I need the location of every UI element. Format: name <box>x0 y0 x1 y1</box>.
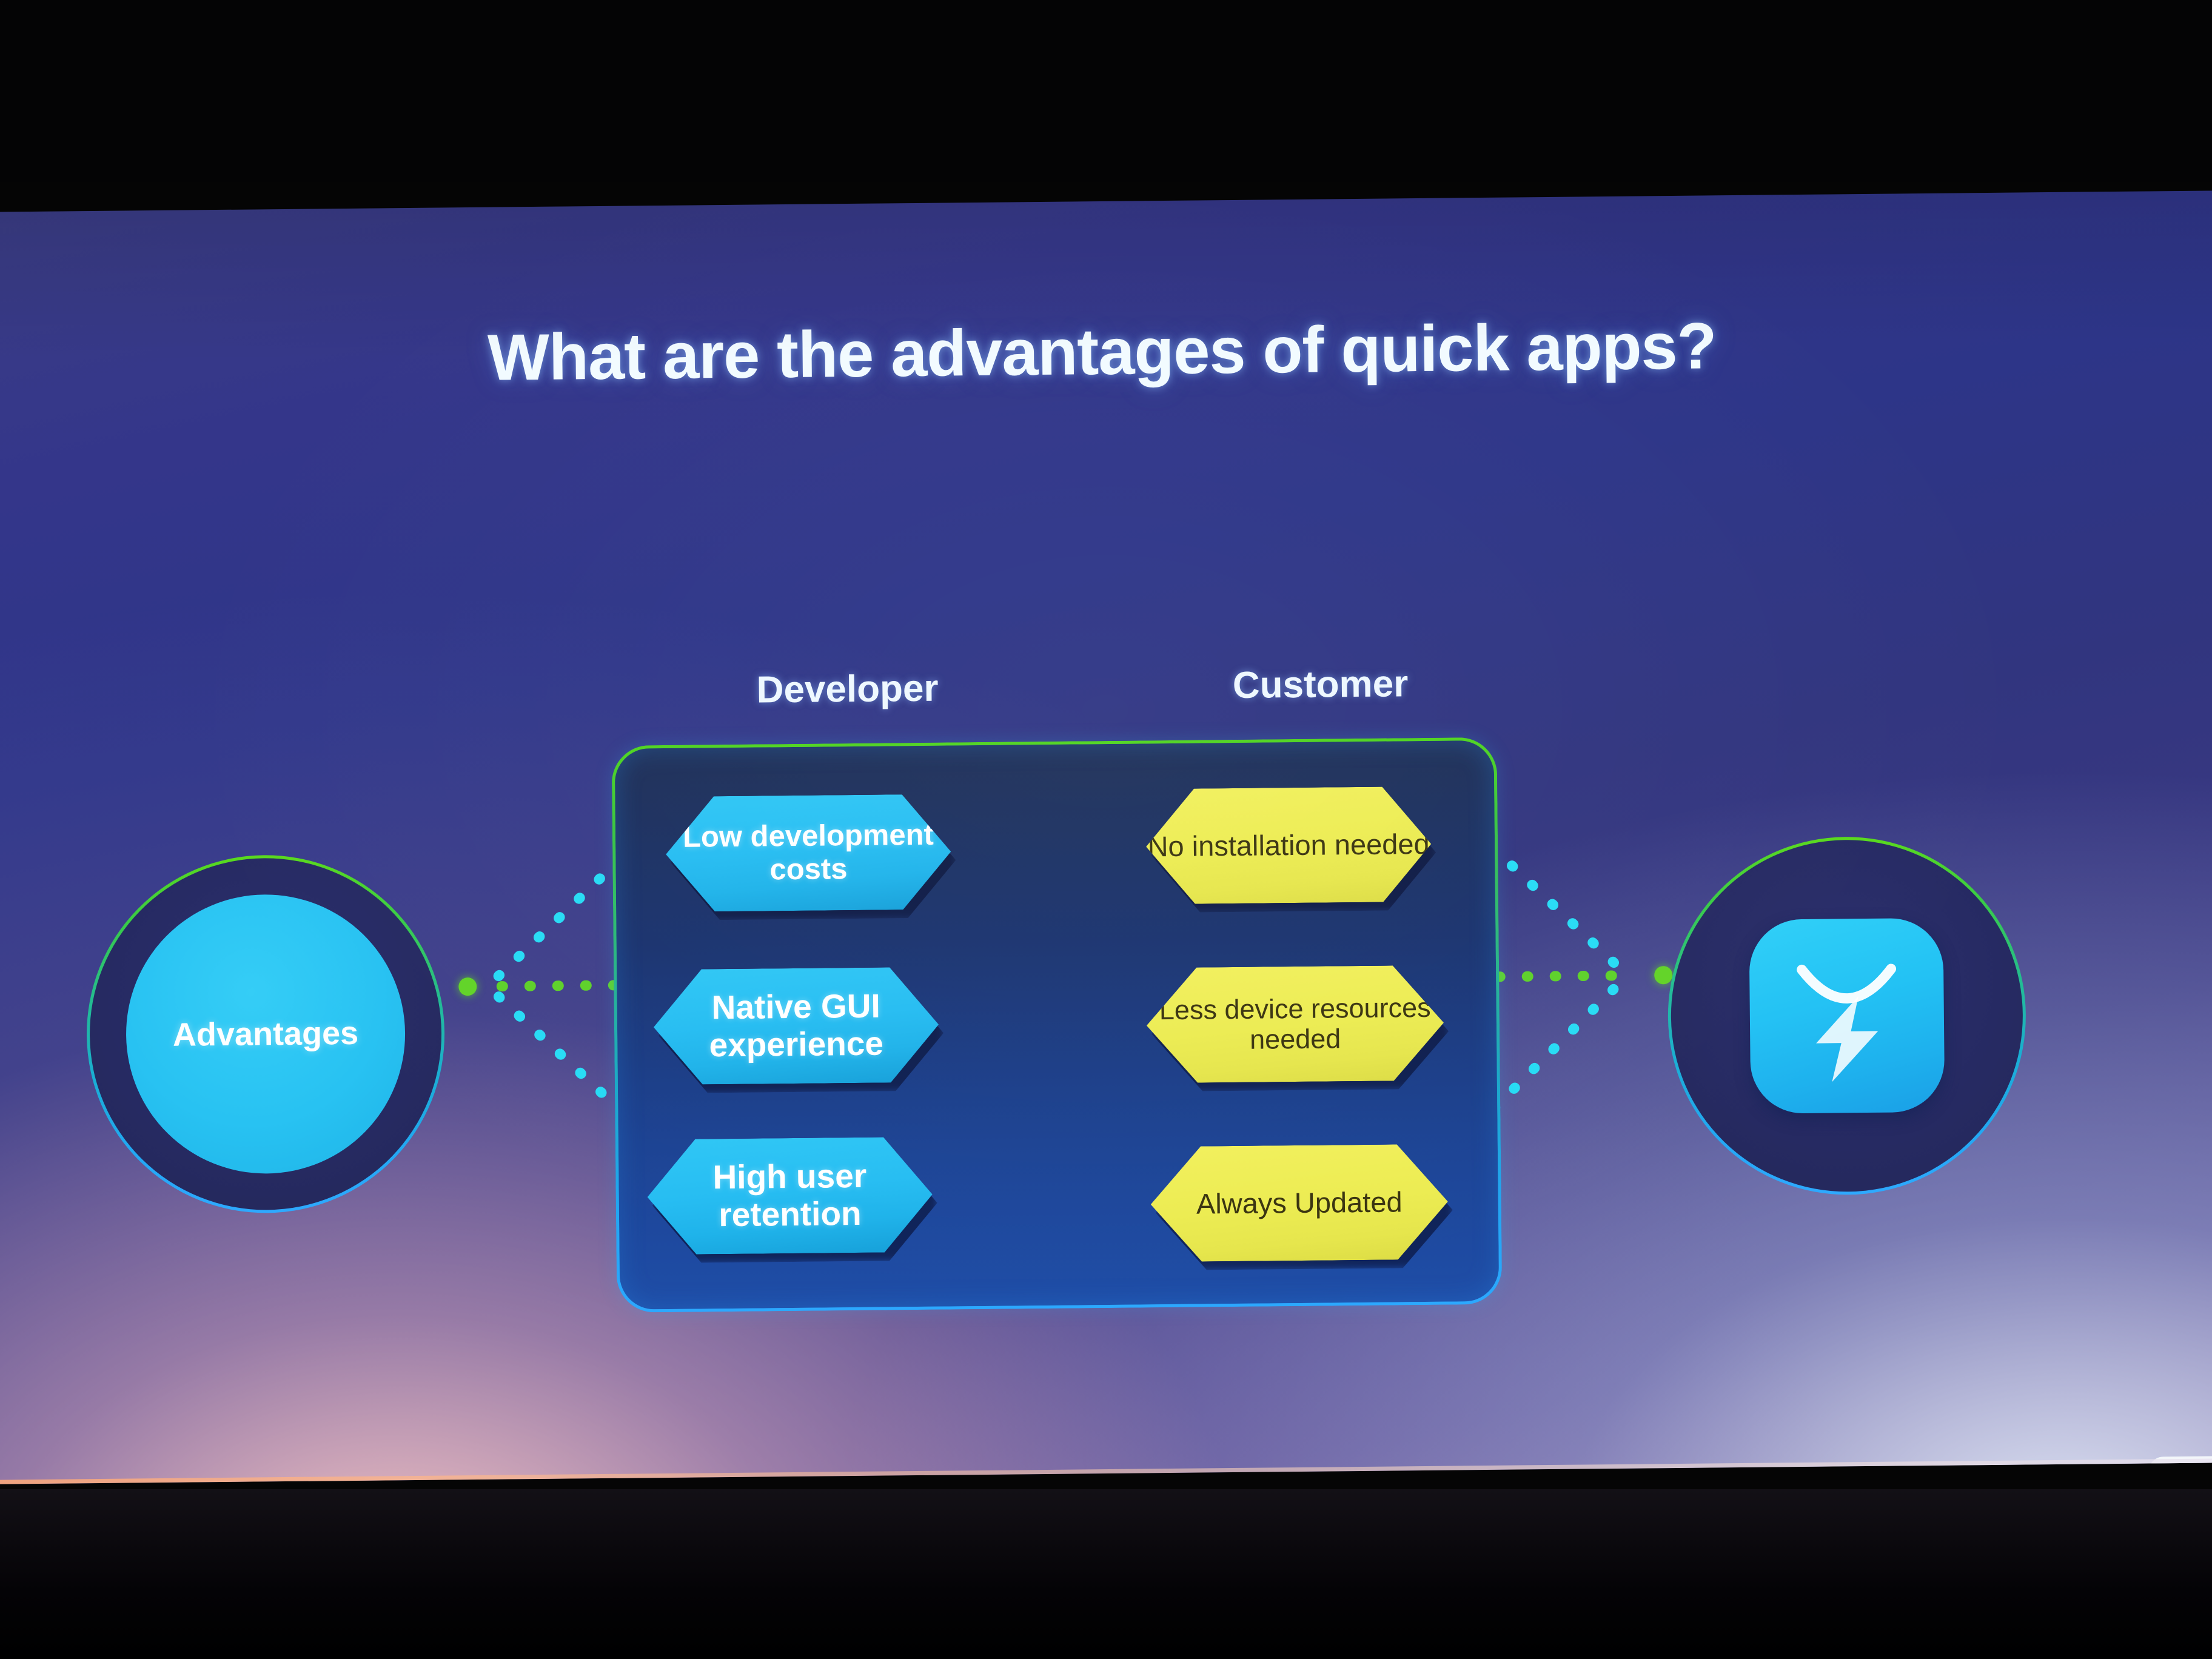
huawei-branding: HUAWEI DEVELOPER DAY <box>1765 1464 2203 1484</box>
node-advantages-label: Advantages <box>125 893 406 1175</box>
node-quick-app-ring-inner <box>1669 839 2025 1194</box>
huawei-wordmark: HUAWEI <box>1765 1466 2014 1484</box>
connector-anchor-left <box>458 977 477 996</box>
connector-right-up <box>1492 845 1617 967</box>
slide-title: What are the advantages of quick apps? <box>13 303 2191 400</box>
hex-developer-3-label: High user retention <box>647 1137 933 1255</box>
quick-app-icon <box>1749 918 1945 1114</box>
node-advantages-ring-inner: Advantages <box>88 857 443 1212</box>
quick-app-glyph <box>1749 918 1945 1114</box>
projection-screen: What are the advantages of quick apps? D… <box>0 190 2212 1484</box>
connector-right-green <box>1499 976 1614 977</box>
presentation-slide: What are the advantages of quick apps? D… <box>12 197 2201 1479</box>
node-advantages[interactable]: Advantages <box>85 854 446 1215</box>
connector-right-down <box>1493 986 1618 1108</box>
connector-left-up <box>497 855 626 976</box>
hex-customer-2-label: Less device resources needed <box>1146 965 1444 1084</box>
node-quick-app[interactable] <box>1666 835 2028 1196</box>
room-dark-area-top <box>0 0 2212 182</box>
hex-developer-3[interactable]: High user retention <box>647 1137 933 1255</box>
hex-developer-2-label: Native GUI experience <box>653 967 939 1085</box>
conference-photo: What are the advantages of quick apps? D… <box>0 0 2212 1659</box>
hex-customer-2[interactable]: Less device resources needed <box>1146 965 1444 1084</box>
hex-developer-1-label: Low development costs <box>665 794 951 912</box>
connector-left-down <box>498 996 627 1118</box>
connector-left-green <box>501 985 617 987</box>
hex-customer-1-label: No installation needed <box>1145 786 1432 905</box>
column-heading-developer: Developer <box>720 666 975 712</box>
room-dark-area-bottom <box>0 1489 2212 1659</box>
hex-developer-1[interactable]: Low development costs <box>665 794 951 912</box>
hex-customer-3[interactable]: Always Updated <box>1150 1144 1449 1262</box>
hex-customer-1[interactable]: No installation needed <box>1145 786 1432 905</box>
hex-customer-3-label: Always Updated <box>1150 1144 1449 1262</box>
connector-anchor-right <box>1654 966 1672 984</box>
column-heading-customer: Customer <box>1193 662 1448 708</box>
hex-developer-2[interactable]: Native GUI experience <box>653 967 939 1085</box>
